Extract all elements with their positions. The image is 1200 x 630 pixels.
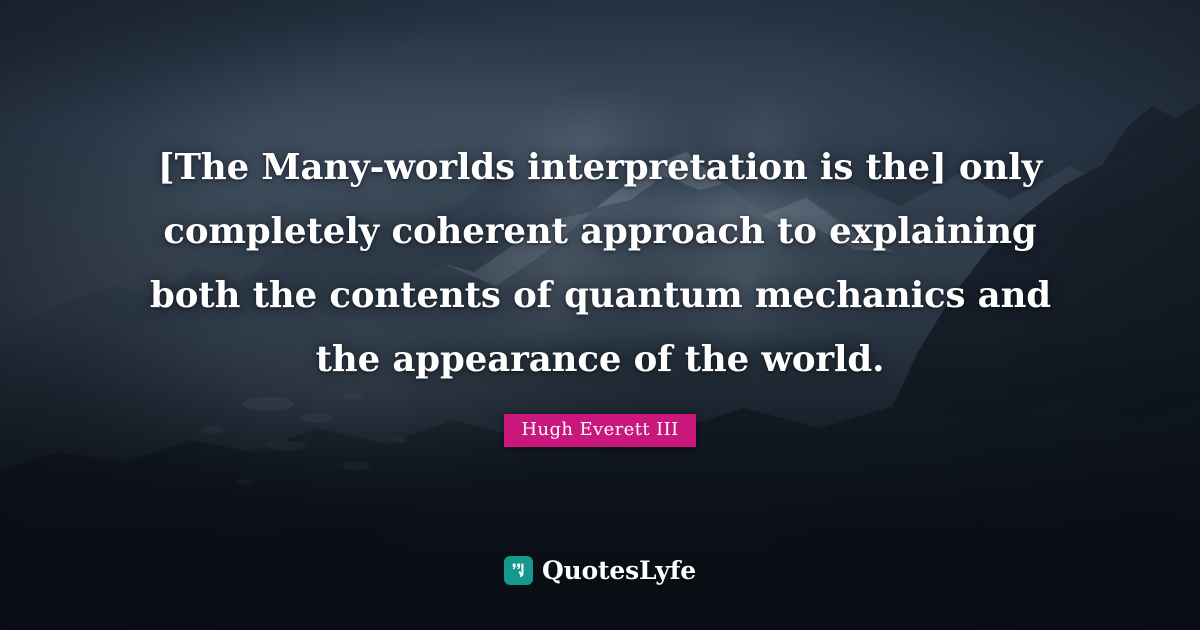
quote-line: the appearance of the world. xyxy=(150,328,1050,392)
quote-image-card: [The Many-worlds interpretation is the] … xyxy=(0,0,1200,630)
quote-line: completely coherent approach to explaini… xyxy=(150,200,1050,264)
quote-line: [The Many-worlds interpretation is the] … xyxy=(150,136,1050,200)
quote-content: [The Many-worlds interpretation is the] … xyxy=(0,0,1200,630)
brand-name: QuotesLyfe xyxy=(542,558,696,583)
quote-line: both the contents of quantum mechanics a… xyxy=(150,264,1050,328)
quote-mark-icon xyxy=(504,556,533,585)
brand-logo[interactable]: QuotesLyfe xyxy=(504,556,696,585)
author-badge[interactable]: Hugh Everett III xyxy=(504,414,695,447)
quote-text: [The Many-worlds interpretation is the] … xyxy=(150,136,1050,392)
